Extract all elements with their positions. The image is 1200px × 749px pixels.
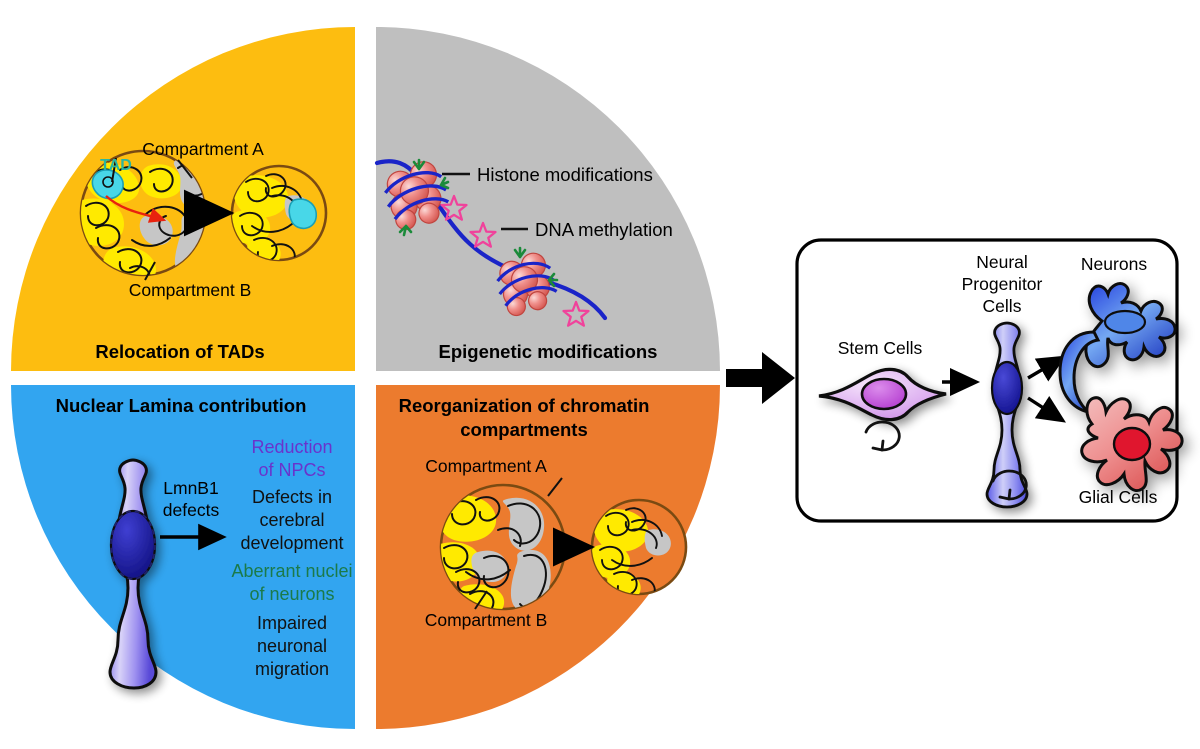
q2-title: Epigenetic modifications xyxy=(439,341,658,362)
npc-label-line1: Neural xyxy=(976,252,1028,272)
lmnb1-line2: defects xyxy=(163,500,220,520)
q4-title-line2: compartments xyxy=(460,419,587,440)
npc-label-line2: Progenitor xyxy=(962,274,1043,294)
neurons-label: Neurons xyxy=(1081,254,1147,274)
npc-label-line3: Cells xyxy=(983,296,1022,316)
main-flow-arrow xyxy=(726,352,795,404)
q1-title: Relocation of TADs xyxy=(95,341,264,362)
tad-label: TAD xyxy=(100,157,132,174)
outcome2-line1: of neurons xyxy=(249,584,334,604)
outcome0-line0: Reduction xyxy=(251,437,332,457)
outcome3-line2: migration xyxy=(255,659,329,679)
lmnb1-line1: LmnB1 xyxy=(163,478,218,498)
q1-compartment-a-label: Compartment A xyxy=(142,139,264,159)
stem-cells-label: Stem Cells xyxy=(838,338,923,358)
outcome1-line0: Defects in xyxy=(252,487,332,507)
figure-canvas: TAD Compartment A Compartment B Relocati… xyxy=(0,0,1200,749)
q1-compartment-b-label: Compartment B xyxy=(129,280,252,300)
q4-title-line1: Reorganization of chromatin xyxy=(399,395,650,416)
outcome1-line1: cerebral xyxy=(259,510,324,530)
outcome3-line1: neuronal xyxy=(257,636,327,656)
q3-title: Nuclear Lamina contribution xyxy=(56,395,307,416)
q4-compartment-a-label: Compartment A xyxy=(425,456,547,476)
dna-methylation-label: DNA methylation xyxy=(535,219,673,240)
outcome1-line2: development xyxy=(240,533,343,553)
outcome2-line0: Aberrant nuclei xyxy=(231,561,352,581)
glial-cells-label: Glial Cells xyxy=(1079,487,1158,507)
q4-compartment-b-label: Compartment B xyxy=(425,610,548,630)
diagram-svg: TAD Compartment A Compartment B Relocati… xyxy=(0,0,1200,749)
outcome0-line1: of NPCs xyxy=(258,460,325,480)
outcome-impaired-neuronal-migration: Impaired neuronal migration xyxy=(255,613,329,679)
histone-modifications-label: Histone modifications xyxy=(477,164,653,185)
outcome3-line0: Impaired xyxy=(257,613,327,633)
